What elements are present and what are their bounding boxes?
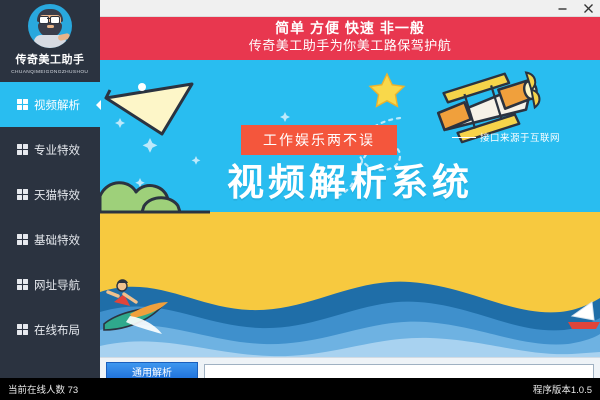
minimize-icon xyxy=(557,3,568,14)
window-controls xyxy=(554,0,596,16)
sidebar-item-video-parse[interactable]: 视频解析 xyxy=(0,82,100,127)
promo-banner-line2: 传奇美工助手为你美工路保驾护航 xyxy=(100,38,600,55)
grid-icon xyxy=(17,144,28,155)
online-count-label: 当前在线人数 73 xyxy=(8,382,78,396)
application-window: 传奇美工助手 CHUANQIMEIGONGZHUSHOU 视频解析 专业特效 天… xyxy=(0,0,600,400)
grid-icon xyxy=(17,234,28,245)
promo-banner-line1: 简单 方便 快速 非一般 xyxy=(100,16,600,38)
status-bar: 当前在线人数 73 程序版本1.0.5 xyxy=(0,378,600,400)
sidebar-item-label: 视频解析 xyxy=(34,97,80,113)
grid-icon xyxy=(17,324,28,335)
kite-icon xyxy=(106,83,192,134)
url-input[interactable] xyxy=(204,364,594,379)
sidebar-item-pro-effects[interactable]: 专业特效 xyxy=(0,127,100,172)
cta-container: 工作娱乐两不误 xyxy=(241,125,397,155)
grid-icon xyxy=(17,99,28,110)
sidebar-item-tmall-effects[interactable]: 天猫特效 xyxy=(0,172,100,217)
close-button[interactable] xyxy=(580,1,596,15)
waves-band xyxy=(100,272,600,357)
sidebar: 传奇美工助手 CHUANQIMEIGONGZHUSHOU 视频解析 专业特效 天… xyxy=(0,0,100,400)
sidebar-item-label: 专业特效 xyxy=(34,142,80,158)
cta-button[interactable]: 工作娱乐两不误 xyxy=(241,125,397,155)
brand-name: 传奇美工助手 xyxy=(16,51,85,67)
title-bar xyxy=(100,0,600,17)
hero-illustration: 视频解析系统 xyxy=(100,60,600,357)
sidebar-nav: 视频解析 专业特效 天猫特效 基础特效 网址导航 在线布局 xyxy=(0,82,100,352)
sidebar-item-online-layout[interactable]: 在线布局 xyxy=(0,307,100,352)
source-note: 接口来源于互联网 xyxy=(452,130,560,144)
sidebar-item-basic-effects[interactable]: 基础特效 xyxy=(0,217,100,262)
source-note-label: 接口来源于互联网 xyxy=(480,130,560,144)
main-content: 简单 方便 快速 非一般 传奇美工助手为你美工路保驾护航 xyxy=(100,16,600,400)
waves-artwork xyxy=(100,272,600,357)
close-icon xyxy=(583,3,594,14)
brand-pinyin: CHUANQIMEIGONGZHUSHOU xyxy=(11,69,88,74)
sidebar-item-label: 基础特效 xyxy=(34,232,80,248)
promo-banner: 简单 方便 快速 非一般 传奇美工助手为你美工路保驾护航 xyxy=(100,16,600,60)
sidebar-item-url-nav[interactable]: 网址导航 xyxy=(0,262,100,307)
sidebar-item-label: 在线布局 xyxy=(34,322,80,338)
hero-title: 视频解析系统 xyxy=(100,152,600,206)
grid-icon xyxy=(17,279,28,290)
grid-icon xyxy=(17,189,28,200)
divider-line xyxy=(452,137,476,138)
bearded-man-avatar-icon xyxy=(28,4,72,48)
sidebar-item-label: 天猫特效 xyxy=(34,187,80,203)
version-label: 程序版本1.0.5 xyxy=(533,382,592,396)
app-logo: 传奇美工助手 CHUANQIMEIGONGZHUSHOU xyxy=(0,0,100,80)
active-arrow-icon xyxy=(96,100,101,110)
minimize-button[interactable] xyxy=(554,1,570,15)
sidebar-item-label: 网址导航 xyxy=(34,277,80,293)
star-icon xyxy=(370,74,404,106)
